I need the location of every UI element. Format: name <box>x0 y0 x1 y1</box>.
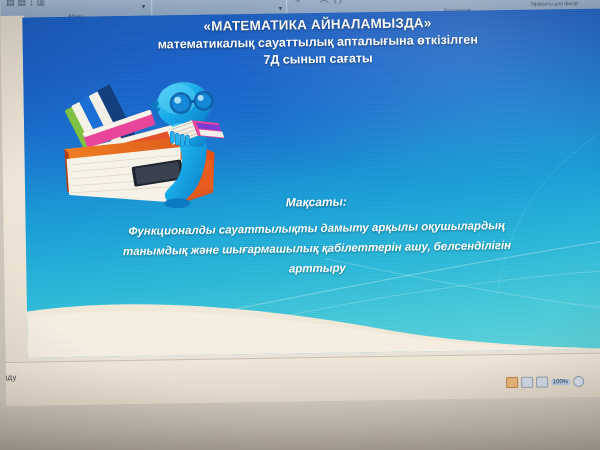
goal-body: Функционалды сауаттылықты дамыту арқылы … <box>44 215 591 284</box>
slideshow-view-button[interactable] <box>536 376 548 387</box>
status-bar-controls[interactable]: 100% <box>506 376 585 388</box>
shape-gallery[interactable]: ᒧ 〰 ︵ ( ) ☆ ▣ <box>295 0 366 5</box>
shape-curve-icon[interactable]: 〰 <box>305 0 314 5</box>
paragraph-align-icons[interactable]: ▤ ▤ ↕ ▥ <box>6 0 45 8</box>
normal-view-button[interactable] <box>506 377 518 388</box>
books-and-mascot-illustration <box>55 72 272 210</box>
smartart-dialog-launcher[interactable]: ▾ <box>279 5 283 13</box>
zoom-level-label: 100% <box>551 379 570 385</box>
paragraph-dialog-launcher[interactable]: ▾ <box>142 3 146 11</box>
status-bar-text: айду <box>0 373 17 382</box>
shape-effects-button[interactable]: Эффекты для фигур <box>530 1 578 8</box>
align-center-icon[interactable]: ▤ <box>18 0 27 8</box>
shape-line-icon[interactable]: ᒧ <box>295 0 301 4</box>
slide-canvas[interactable]: «МАТЕМАТИКА АЙНАЛАМЫЗДА» математикалық с… <box>22 9 600 358</box>
fit-slide-to-window-button[interactable] <box>573 376 584 387</box>
slide-title-block: «МАТЕМАТИКА АЙНАЛАМЫЗДА» математикалық с… <box>62 13 573 71</box>
status-bar: айду 100% <box>6 352 600 405</box>
shape-star-icon[interactable]: ☆ <box>347 0 355 4</box>
line-spacing-icon[interactable]: ↕ <box>29 0 34 7</box>
powerpoint-window: ▤ ▤ ↕ ▥ Абзац ▾ Преобразовать в SmartArt… <box>0 0 600 406</box>
columns-icon[interactable]: ▥ <box>37 0 46 7</box>
shape-arc-icon[interactable]: ︵ <box>319 0 328 5</box>
shape-gallery-more-icon[interactable]: ▣ <box>360 0 366 1</box>
shape-brace-icon[interactable]: ( ) <box>334 0 343 3</box>
desk-surface <box>0 400 600 450</box>
slide-sorter-view-button[interactable] <box>521 377 533 388</box>
convert-to-smartart-button[interactable]: Преобразовать в SmartArt <box>156 0 217 2</box>
monitor-photo: ▤ ▤ ↕ ▥ Абзац ▾ Преобразовать в SmartArt… <box>0 0 600 450</box>
align-left-icon[interactable]: ▤ <box>6 0 15 8</box>
